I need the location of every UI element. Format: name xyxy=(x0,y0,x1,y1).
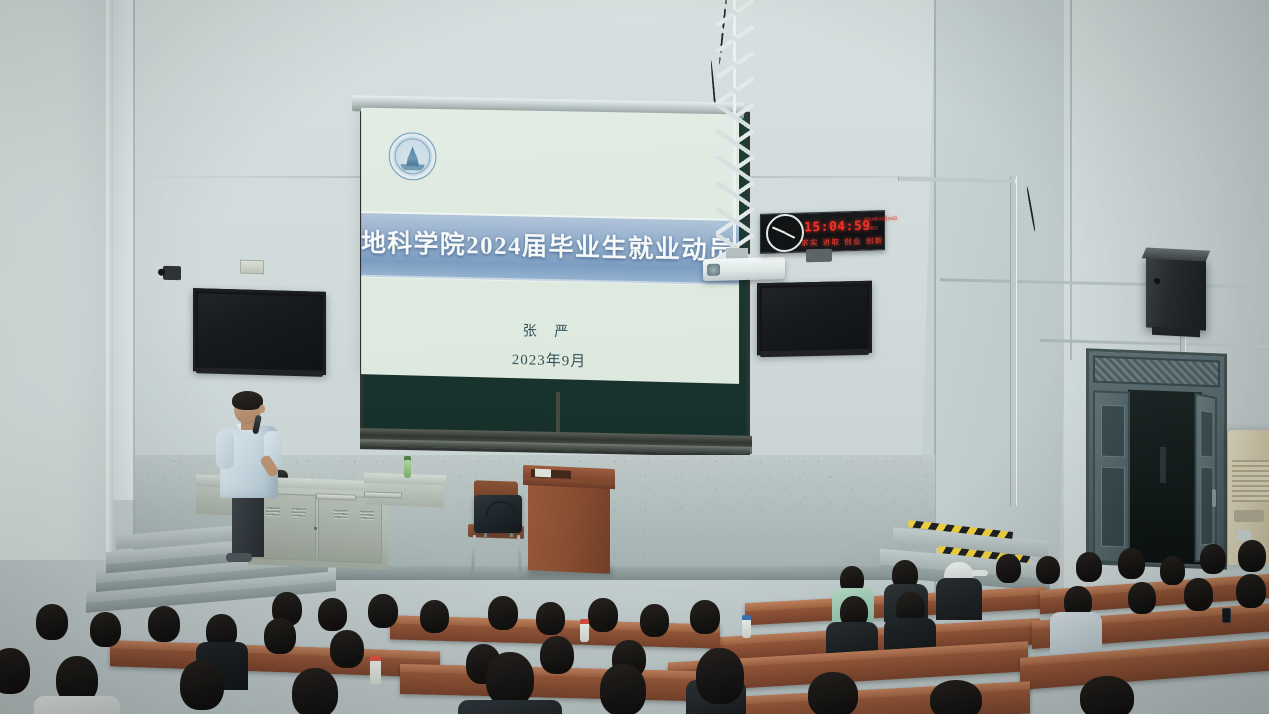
list-item xyxy=(90,612,121,647)
list-item xyxy=(690,600,720,634)
list-item xyxy=(264,618,296,654)
list-item xyxy=(1128,582,1156,614)
wall-junction-box xyxy=(806,249,832,263)
lectern-body xyxy=(528,484,610,574)
speaker-shoe xyxy=(226,553,252,562)
ac-control-panel[interactable] xyxy=(1234,510,1264,522)
clock-minute-hand xyxy=(772,227,785,234)
projection-screen: 地科学院2024届毕业生就业动员大会 张 严 2023年9月 xyxy=(352,99,744,389)
list-item xyxy=(368,594,398,628)
left-pillar-edge xyxy=(106,0,113,560)
list-item xyxy=(1076,552,1102,582)
screen-surface: 地科学院2024届毕业生就业动员大会 张 严 2023年9月 xyxy=(361,108,739,384)
black-laptop-bag xyxy=(474,495,522,533)
left-pillar xyxy=(0,0,112,560)
list-item xyxy=(0,648,30,694)
right-wall-column xyxy=(918,0,1075,600)
list-item xyxy=(486,652,534,706)
wooden-lectern xyxy=(523,467,615,576)
list-item xyxy=(536,602,565,635)
door-handle[interactable] xyxy=(1212,489,1216,507)
security-camera-icon xyxy=(163,266,181,280)
list-item xyxy=(600,664,646,714)
list-item xyxy=(488,596,518,630)
list-item xyxy=(1118,548,1145,579)
led-motto-text: 求实 进取 创业 创新 xyxy=(801,235,884,248)
list-item xyxy=(1036,556,1060,584)
water-bottle xyxy=(742,618,751,638)
list-item xyxy=(1200,544,1226,574)
wall-mounted-tv-right xyxy=(757,281,872,355)
list-item xyxy=(458,700,562,714)
list-item xyxy=(148,606,180,642)
list-item xyxy=(808,672,858,714)
speaker-ear xyxy=(259,405,265,413)
speaker-trousers xyxy=(232,495,264,557)
list-item xyxy=(1236,574,1266,608)
list-item xyxy=(420,600,449,633)
led-weekday-text: 星期四 xyxy=(866,225,878,231)
green-drink-bottle xyxy=(404,460,411,478)
led-date-text: 2024年01月25日 xyxy=(864,216,897,223)
list-item xyxy=(330,630,364,668)
door-closer-arm xyxy=(1160,447,1166,483)
list-item xyxy=(1080,676,1134,714)
ac-vent-grille xyxy=(1232,460,1269,502)
list-item xyxy=(696,648,744,704)
projector-lens xyxy=(707,264,720,276)
door-leaf-right[interactable] xyxy=(1195,393,1217,563)
list-item xyxy=(34,696,120,714)
list-item xyxy=(1160,556,1185,585)
list-item xyxy=(930,680,982,714)
cap-brim xyxy=(972,570,988,576)
list-item xyxy=(936,578,982,620)
list-item xyxy=(318,598,347,631)
speaker-sleeve-left xyxy=(216,431,234,469)
list-item xyxy=(180,660,224,710)
list-item xyxy=(588,598,618,632)
presenting-speaker xyxy=(220,393,282,568)
list-item xyxy=(1184,578,1213,611)
lectern-papers xyxy=(535,469,551,478)
list-item xyxy=(996,554,1021,583)
door-transom-grille xyxy=(1093,356,1220,388)
bottle-cap-icon xyxy=(580,619,589,624)
list-item xyxy=(1050,612,1102,654)
water-bottle xyxy=(370,660,381,684)
university-seal-logo xyxy=(389,132,437,181)
wooden-chair xyxy=(468,481,526,574)
slide-presenter-name: 张 严 xyxy=(361,316,739,345)
lecture-hall-photo: 地科学院2024届毕业生就业动员大会 张 严 2023年9月 15:04:59 … xyxy=(0,0,1269,714)
list-item xyxy=(1238,540,1266,572)
door-leaf-left[interactable] xyxy=(1093,390,1130,563)
bag-handle xyxy=(486,501,516,517)
smartphone xyxy=(1222,608,1231,623)
bottle-cap-icon xyxy=(370,656,381,661)
led-clock-time: 15:04:59 xyxy=(804,219,871,236)
wall-conduit-vertical xyxy=(1010,176,1017,506)
wall-mounted-tv-left xyxy=(193,288,326,375)
left-wall-panel xyxy=(113,0,135,500)
ceiling-projector xyxy=(703,257,785,281)
clock-hour-hand xyxy=(785,232,796,239)
bottle-cap-icon xyxy=(742,615,751,620)
list-item xyxy=(292,668,338,714)
list-item xyxy=(540,636,574,674)
slide-date-text: 2023年9月 xyxy=(361,344,739,375)
water-bottle xyxy=(580,622,589,642)
list-item xyxy=(36,604,68,640)
list-item xyxy=(640,604,669,637)
wall-seam-corner xyxy=(1070,0,1072,360)
wall-mounted-loudspeaker xyxy=(1146,255,1206,330)
entrance-doorway[interactable] xyxy=(1086,351,1227,567)
scissor-lift-mount xyxy=(716,0,754,258)
wall-access-plate xyxy=(240,260,264,275)
console-module-2 xyxy=(364,491,402,498)
